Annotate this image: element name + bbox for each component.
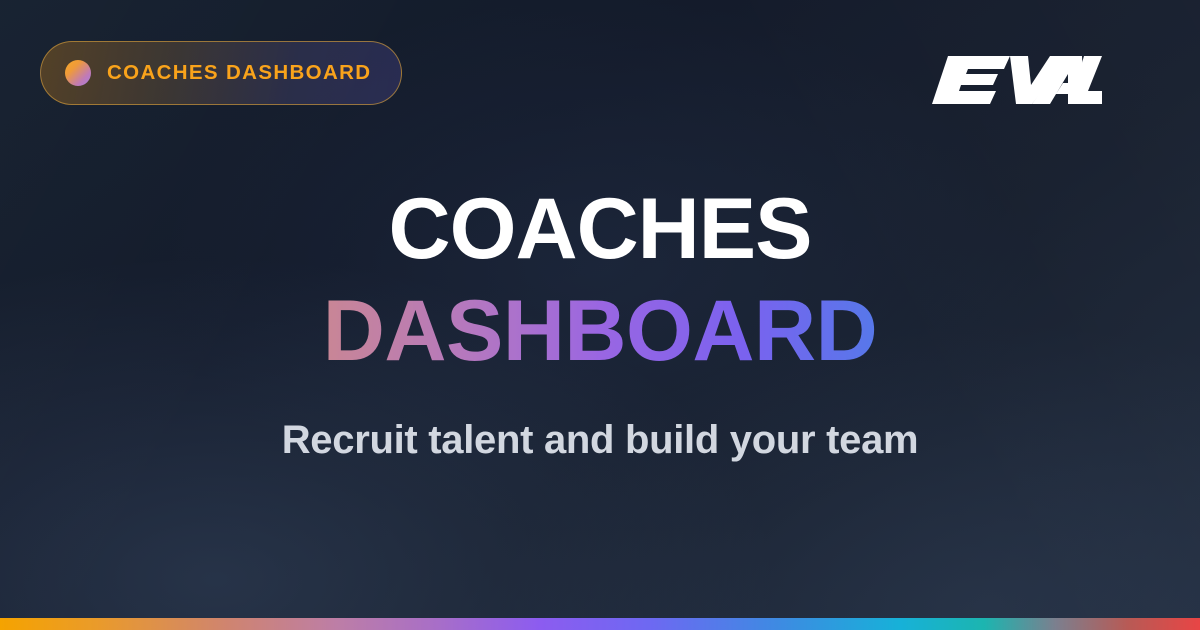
gradient-dot-icon <box>65 60 91 86</box>
slide-canvas: COACHES DASHBOARD COACHES DASHBOARD Recr… <box>0 0 1200 630</box>
coaches-dashboard-badge[interactable]: COACHES DASHBOARD <box>40 41 402 105</box>
page-subtitle: Recruit talent and build your team <box>0 418 1200 462</box>
bottom-gradient-bar <box>0 618 1200 630</box>
eval-logo-mark <box>932 52 1102 104</box>
page-title-line2: DASHBOARD <box>0 288 1200 374</box>
badge-label: COACHES DASHBOARD <box>107 63 371 84</box>
page-title-line1: COACHES <box>0 186 1200 272</box>
hero-block: COACHES DASHBOARD Recruit talent and bui… <box>0 186 1200 462</box>
eval-logo <box>932 52 1102 104</box>
